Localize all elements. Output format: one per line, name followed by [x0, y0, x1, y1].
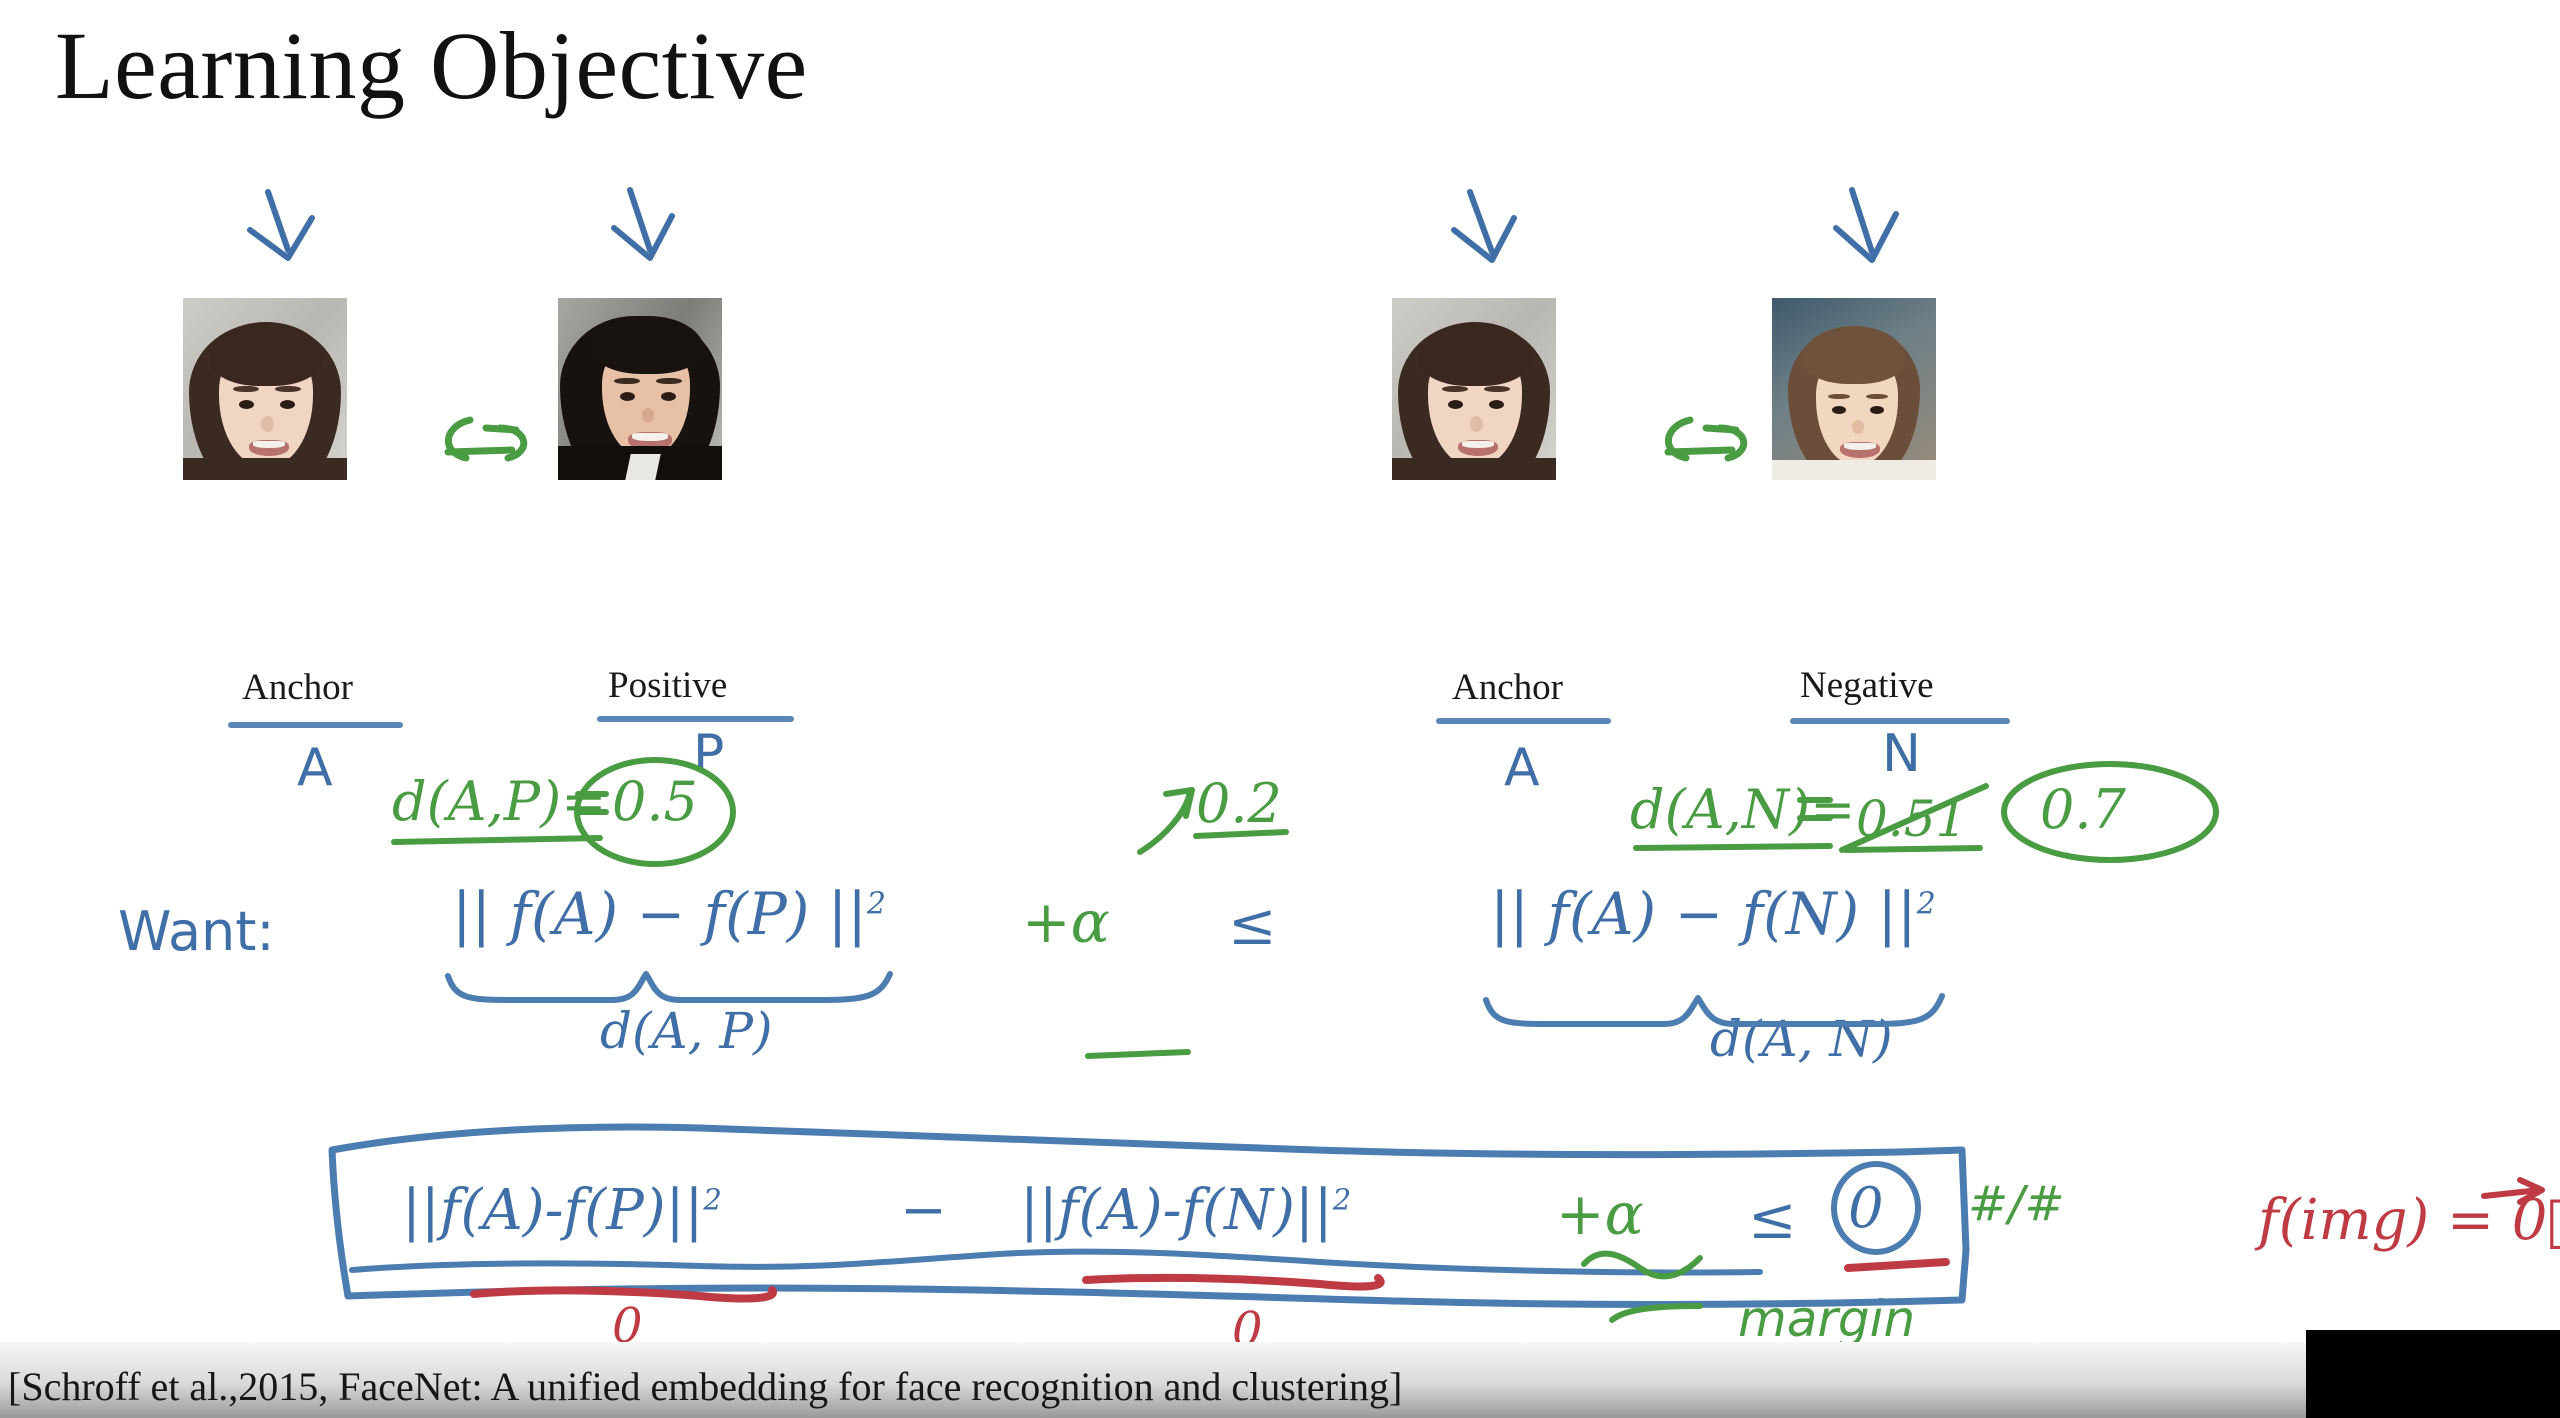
boxed-term1-exponent: 2: [703, 1182, 721, 1216]
want-lhs-exponent: 2: [867, 887, 886, 922]
boxed-term2-text: ||f(A)-f(N)||: [1020, 1178, 1333, 1243]
video-overlay-bar: [2306, 1330, 2560, 1418]
down-arrow-icon-anchor-right: [1454, 192, 1514, 260]
eye-right: [661, 392, 676, 401]
down-arrow-icon-positive: [614, 190, 672, 258]
eyebrow-right: [1866, 394, 1888, 399]
want-rhs-norm-text: || f(A) − f(N) ||: [1490, 880, 1917, 948]
distance-note-positive: d(A,P)=: [392, 770, 606, 833]
shoulders: [183, 458, 347, 480]
hair-front: [592, 316, 704, 374]
symbol-anchor-right: A: [1504, 738, 1540, 798]
underline-d-a-n: [1636, 846, 1830, 848]
eye-right: [1489, 400, 1504, 409]
underline-alpha-want: [1088, 1052, 1188, 1056]
eyebrow-right: [275, 386, 301, 392]
teeth: [253, 441, 285, 448]
eye-left: [1448, 400, 1463, 409]
nose: [1852, 420, 1864, 434]
citation-text: [Schroff et al.,2015, FaceNet: A unified…: [8, 1363, 1402, 1410]
caption-underline-positive: [597, 716, 794, 722]
eye-right: [1870, 406, 1884, 414]
distance-value-positive: 0.5: [612, 770, 698, 833]
eyebrow-left: [1442, 386, 1468, 392]
caption-underline-anchor-left: [228, 722, 403, 728]
face-photo-negative: [1772, 298, 1936, 480]
eye-left: [1832, 406, 1846, 414]
distance-value-struck-negative: 0.51: [1856, 790, 1967, 848]
caption-underline-anchor-right: [1436, 718, 1611, 724]
red-underline-term2: [1086, 1278, 1381, 1287]
eye-right: [280, 400, 295, 409]
want-lhs-norm-text: || f(A) − f(P) ||: [452, 880, 867, 948]
caption-positive: Positive: [608, 664, 727, 707]
margin-label: margin: [1738, 1290, 1915, 1348]
callout-arrow-icon-0-2: [1140, 790, 1192, 852]
boxed-term2-exponent: 2: [1333, 1182, 1351, 1216]
teeth: [1462, 441, 1494, 448]
eyebrow-left: [614, 378, 640, 384]
distance-value-negative: 0.7: [2040, 778, 2126, 841]
want-plus-alpha: +α: [1022, 888, 1110, 956]
shirt-collar: [625, 454, 661, 480]
down-arrow-icon-negative: [1836, 190, 1896, 260]
boxed-term2: ||f(A)-f(N)||2: [1020, 1178, 1351, 1243]
nose: [642, 408, 654, 423]
boxed-term1: ||f(A)-f(P)||2: [402, 1178, 722, 1243]
want-rhs-brace-label: d(A, N): [1710, 1010, 1893, 1068]
underbrace-d-a-p: [448, 974, 890, 1000]
boxed-inner-rule: [352, 1252, 1760, 1273]
hair-front: [1802, 326, 1906, 384]
slide-canvas: Learning Objective: [0, 0, 2560, 1418]
face-photo-anchor-right: [1392, 298, 1556, 480]
want-operator: ≤: [1228, 890, 1277, 958]
nose: [261, 416, 274, 432]
teeth: [632, 433, 668, 441]
eyebrow-left: [233, 386, 259, 392]
eyebrow-right: [1484, 386, 1510, 392]
red-underline-rhs-zero: [1848, 1262, 1946, 1268]
alpha-callout-value: 0.2: [1196, 772, 1282, 835]
double-headed-arrow-icon-positive: [448, 420, 524, 458]
eye-left: [239, 400, 254, 409]
shoulders: [1772, 460, 1936, 480]
want-lhs-norm: || f(A) − f(P) ||2: [452, 880, 886, 948]
boxed-term1-text: ||f(A)-f(P)||: [402, 1178, 703, 1243]
caption-anchor-left: Anchor: [242, 666, 353, 709]
hook-arrow-icon-margin: [1584, 1254, 1700, 1320]
symbol-anchor-left: A: [297, 738, 333, 798]
eyebrow-right: [656, 378, 682, 384]
face-photo-positive: [558, 298, 722, 480]
want-label: Want:: [118, 900, 275, 963]
boxed-rhs-zero: 0: [1848, 1176, 1884, 1241]
teeth: [1844, 443, 1876, 450]
embedding-note: f(img) = 0⃗: [2258, 1188, 2560, 1253]
distance-note-negative: d(A,N)=: [1630, 778, 1855, 841]
want-label-text: Want:: [118, 900, 275, 963]
caption-anchor-right: Anchor: [1452, 666, 1563, 709]
symbol-negative: N: [1882, 724, 1921, 784]
eye-left: [620, 392, 635, 401]
face-photo-anchor-left: [183, 298, 347, 480]
caption-negative: Negative: [1800, 664, 1934, 707]
shoulders: [1392, 458, 1556, 480]
slash-note: #/#: [1968, 1176, 2065, 1232]
underline-d-a-p: [394, 838, 600, 842]
underline-0-51: [1846, 848, 1980, 850]
want-rhs-norm: || f(A) − f(N) ||2: [1490, 880, 1936, 948]
double-headed-arrow-icon-negative: [1668, 420, 1744, 458]
boxed-operator: ≤: [1748, 1184, 1797, 1252]
boxed-plus-alpha: +α: [1556, 1180, 1644, 1248]
want-lhs-brace-label: d(A, P): [600, 1002, 773, 1060]
nose: [1470, 416, 1483, 432]
down-arrow-icon-anchor-left: [250, 192, 312, 258]
eyebrow-left: [1828, 394, 1850, 399]
boxed-minus: −: [900, 1178, 947, 1243]
want-rhs-exponent: 2: [1917, 887, 1936, 922]
page-title: Learning Objective: [55, 18, 808, 114]
